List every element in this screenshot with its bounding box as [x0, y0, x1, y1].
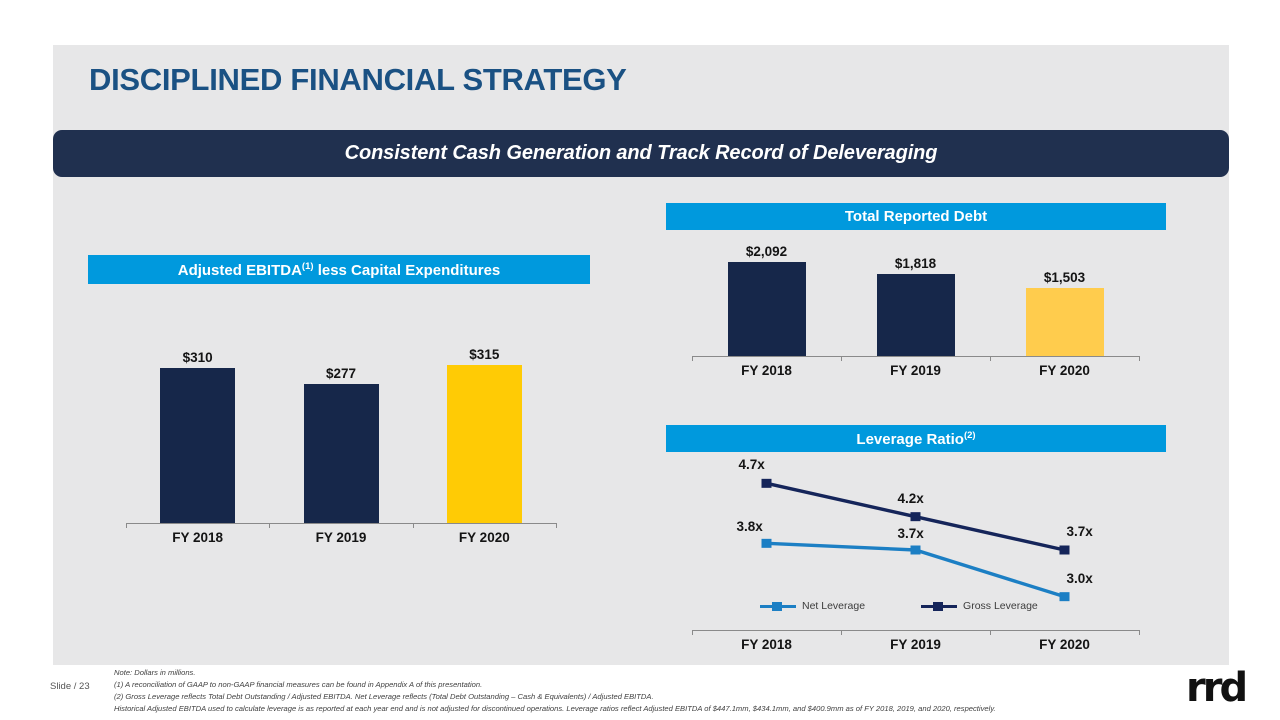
data-point-marker: [762, 539, 772, 548]
data-point-marker: [762, 479, 772, 488]
data-point-marker: [1060, 546, 1070, 555]
axis-end-tick: [126, 523, 127, 528]
category-label: FY 2020: [1005, 637, 1125, 652]
footnote-line: Note: Dollars in millions.: [114, 667, 996, 679]
category-label: FY 2020: [424, 530, 544, 545]
chart-plot-leverage: 3.8x3.7x3.0x4.7x4.2x3.7x: [692, 470, 1139, 610]
chart-header-ebitda: Adjusted EBITDA(1) less Capital Expendit…: [88, 255, 590, 284]
legend-label: Net Leverage: [802, 600, 865, 612]
subtitle-text: Consistent Cash Generation and Track Rec…: [345, 142, 938, 165]
data-point-marker: [911, 546, 921, 555]
category-label: FY 2018: [707, 363, 827, 378]
axis-end-tick: [1139, 356, 1140, 361]
bar-fy-2018: [728, 262, 806, 356]
point-value-label: 3.0x: [1067, 571, 1093, 586]
category-label: FY 2020: [1005, 363, 1125, 378]
axis-tick: [841, 630, 842, 635]
bar-value-label: $310: [138, 350, 258, 365]
bar-fy-2020: [447, 365, 522, 523]
point-value-label: 3.7x: [898, 526, 924, 541]
chart-title-leverage: Leverage Ratio: [856, 431, 964, 448]
chart-header-leverage: Leverage Ratio(2): [666, 425, 1166, 452]
axis-tick: [990, 356, 991, 361]
rrd-logo: rrd: [1186, 668, 1245, 708]
chart-axis-leverage: FY 2018FY 2019FY 2020: [692, 630, 1139, 631]
data-point-marker: [911, 512, 921, 521]
chart-plot-debt: $2,092$1,818$1,503: [692, 262, 1139, 356]
point-value-label: 3.8x: [737, 519, 763, 534]
legend-label: Gross Leverage: [963, 600, 1038, 612]
axis-tick: [841, 356, 842, 361]
axis-tick: [269, 523, 270, 528]
category-label: FY 2019: [856, 637, 976, 652]
data-point-marker: [1060, 592, 1070, 601]
axis-tick: [990, 630, 991, 635]
bar-fy-2019: [304, 384, 379, 523]
bar-value-label: $277: [281, 366, 401, 381]
axis-end-tick: [692, 356, 693, 361]
bar-value-label: $2,092: [707, 244, 827, 259]
chart-title-debt: Total Reported Debt: [845, 208, 987, 225]
legend-item-net-leverage: Net Leverage: [760, 600, 865, 612]
footnote-line: Historical Adjusted EBITDA used to calcu…: [114, 703, 996, 715]
footnote-ref-2: (2): [964, 430, 976, 441]
footnote-ref-1: (1): [302, 261, 314, 272]
footnote-line: (1) A reconciliation of GAAP to non-GAAP…: [114, 679, 996, 691]
bar-fy-2020: [1026, 288, 1104, 356]
footnote-line: (2) Gross Leverage reflects Total Debt O…: [114, 691, 996, 703]
subtitle-banner: Consistent Cash Generation and Track Rec…: [53, 130, 1229, 177]
category-label: FY 2018: [138, 530, 258, 545]
axis-tick: [413, 523, 414, 528]
point-value-label: 4.7x: [739, 457, 765, 472]
category-label: FY 2019: [281, 530, 401, 545]
point-value-label: 3.7x: [1067, 524, 1093, 539]
category-label: FY 2019: [856, 363, 976, 378]
legend-swatch-icon: [921, 605, 957, 608]
slide-root: DISCIPLINED FINANCIAL STRATEGY Consisten…: [0, 0, 1280, 720]
point-value-label: 4.2x: [898, 491, 924, 506]
bar-value-label: $315: [424, 347, 544, 362]
axis-end-tick: [556, 523, 557, 528]
bar-value-label: $1,503: [1005, 270, 1125, 285]
axis-end-tick: [1139, 630, 1140, 635]
chart-legend-leverage: Net LeverageGross Leverage: [760, 600, 1038, 612]
chart-plot-ebitda: $310$277$315: [126, 365, 556, 523]
category-label: FY 2018: [707, 637, 827, 652]
chart-title-ebitda-suffix: less Capital Expenditures: [314, 262, 501, 279]
chart-axis-ebitda: FY 2018FY 2019FY 2020: [126, 523, 556, 524]
page-title: DISCIPLINED FINANCIAL STRATEGY: [89, 62, 627, 98]
slide-number: Slide / 23: [50, 681, 90, 692]
bar-value-label: $1,818: [856, 256, 976, 271]
bar-fy-2018: [160, 368, 235, 523]
axis-end-tick: [692, 630, 693, 635]
bar-fy-2019: [877, 274, 955, 356]
chart-axis-debt: FY 2018FY 2019FY 2020: [692, 356, 1139, 357]
chart-title-ebitda: Adjusted EBITDA: [178, 262, 302, 279]
legend-item-gross-leverage: Gross Leverage: [921, 600, 1038, 612]
chart-header-debt: Total Reported Debt: [666, 203, 1166, 230]
legend-swatch-icon: [760, 605, 796, 608]
footnotes-block: Note: Dollars in millions.(1) A reconcil…: [114, 667, 996, 715]
